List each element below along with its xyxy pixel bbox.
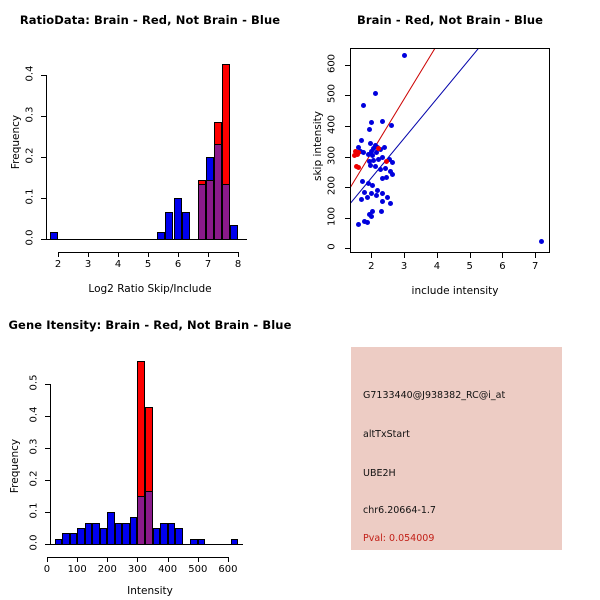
scatter-title: Brain - Red, Not Brain - Blue xyxy=(300,13,600,27)
gene-info-panel: G7133440@J938382_RC@i_at altTxStart UBE2… xyxy=(351,347,562,550)
histogram-bar-notbrain xyxy=(100,528,108,545)
y-axis-tick-label: 0.3 xyxy=(25,103,36,127)
histogram-bar-overlap xyxy=(214,144,222,240)
histogram-bar-notbrain xyxy=(160,523,168,545)
y-axis-tick-label: 0.1 xyxy=(29,498,40,522)
histogram-bar-overlap xyxy=(145,491,153,545)
x-axis-tick xyxy=(107,557,108,562)
y-axis-tick-label: 0.0 xyxy=(25,226,36,250)
ratio-histogram-title: RatioData: Brain - Red, Not Brain - Blue xyxy=(0,13,300,27)
y-axis-tick-label: 0.5 xyxy=(29,370,40,394)
ratio-histogram-ylabel: Frequency xyxy=(10,112,22,172)
x-axis-tick-label: 4 xyxy=(427,261,447,272)
x-axis-tick-label: 300 xyxy=(123,564,151,575)
y-axis-tick-label: 0.0 xyxy=(29,531,40,555)
x-axis-tick-label: 0 xyxy=(33,564,61,575)
y-axis-tick xyxy=(45,448,50,449)
x-axis-tick-label: 3 xyxy=(394,261,414,272)
histogram-bar-notbrain xyxy=(85,523,93,545)
histogram-bar-notbrain xyxy=(168,523,176,545)
y-axis-tick xyxy=(45,544,50,545)
info-pval: Pval: 0.054009 xyxy=(363,533,434,544)
r-plot-canvas: RatioData: Brain - Red, Not Brain - Blue… xyxy=(0,0,600,600)
histogram-bar-notbrain xyxy=(107,512,115,545)
y-axis-tick-label: 300 xyxy=(327,142,338,168)
x-axis-tick xyxy=(168,557,169,562)
y-axis-tick-label: 500 xyxy=(327,81,338,107)
x-axis-tick xyxy=(238,252,239,257)
x-axis-tick-label: 600 xyxy=(214,564,242,575)
x-axis-tick-label: 8 xyxy=(228,259,248,270)
histogram-bar-notbrain xyxy=(122,523,130,545)
y-axis-tick-label: 0 xyxy=(327,234,338,260)
x-axis-tick xyxy=(228,557,229,562)
y-axis-line xyxy=(50,384,51,544)
y-axis-tick xyxy=(41,157,46,158)
x-axis-tick xyxy=(47,557,48,562)
x-axis-tick xyxy=(137,557,138,562)
x-axis-tick xyxy=(502,253,503,258)
panel-gene-intensity-histogram: Gene Itensity: Brain - Red, Not Brain - … xyxy=(0,300,300,600)
scatter-ylabel: skip intensity xyxy=(312,111,324,181)
histogram-baseline xyxy=(50,544,243,545)
x-axis-tick xyxy=(470,253,471,258)
panel-intensity-scatter: Brain - Red, Not Brain - Blue skip inten… xyxy=(300,0,600,300)
y-axis-tick xyxy=(45,416,50,417)
histogram-bar-overlap xyxy=(137,496,145,545)
y-axis-tick-label: 400 xyxy=(327,112,338,138)
y-axis-line xyxy=(46,75,47,239)
info-event-type: altTxStart xyxy=(363,429,410,440)
x-axis-tick xyxy=(437,253,438,258)
y-axis-tick xyxy=(345,187,350,188)
y-axis-tick-label: 600 xyxy=(327,50,338,76)
y-axis-tick xyxy=(345,218,350,219)
y-axis-tick-label: 0.2 xyxy=(29,466,40,490)
x-axis-tick xyxy=(198,557,199,562)
y-axis-tick xyxy=(345,126,350,127)
y-axis-tick xyxy=(345,157,350,158)
y-axis-tick xyxy=(45,384,50,385)
histogram-bar-notbrain xyxy=(153,528,161,545)
histogram-bar-notbrain xyxy=(182,212,190,240)
y-axis-tick xyxy=(45,512,50,513)
y-axis-tick xyxy=(45,480,50,481)
gene-histogram-ylabel: Frequency xyxy=(9,436,21,496)
histogram-bar-notbrain xyxy=(230,225,238,240)
histogram-bar-notbrain xyxy=(174,198,182,240)
x-axis-tick xyxy=(404,253,405,258)
panel-ratio-histogram: RatioData: Brain - Red, Not Brain - Blue… xyxy=(0,0,300,300)
histogram-bar-notbrain xyxy=(92,523,100,545)
gene-histogram-title: Gene Itensity: Brain - Red, Not Brain - … xyxy=(0,318,300,332)
histogram-bar-overlap xyxy=(198,184,206,240)
histogram-bar-notbrain xyxy=(165,212,173,240)
histogram-baseline xyxy=(46,239,247,240)
histogram-bar-overlap xyxy=(222,184,230,240)
info-locus: chr6.20664-1.7 xyxy=(363,505,436,516)
x-axis-tick-label: 7 xyxy=(198,259,218,270)
y-axis-tick-label: 200 xyxy=(327,173,338,199)
y-axis-tick-label: 0.3 xyxy=(29,434,40,458)
y-axis-tick xyxy=(41,116,46,117)
info-gene-symbol: UBE2H xyxy=(363,468,396,479)
x-axis-tick xyxy=(118,252,119,257)
x-axis-tick xyxy=(535,253,536,258)
info-probe-id: G7133440@J938382_RC@i_at xyxy=(363,390,505,401)
y-axis-tick-label: 0.4 xyxy=(29,402,40,426)
histogram-bar-notbrain xyxy=(77,528,85,545)
x-axis-tick xyxy=(178,252,179,257)
x-axis-tick-label: 2 xyxy=(361,261,381,272)
y-axis-tick-label: 0.1 xyxy=(25,185,36,209)
y-axis-tick-label: 0.4 xyxy=(25,62,36,86)
y-axis-tick-label: 100 xyxy=(327,203,338,229)
y-axis-tick-label: 0.2 xyxy=(25,144,36,168)
histogram-bar-notbrain xyxy=(175,528,183,545)
histogram-bar-overlap xyxy=(206,180,214,240)
histogram-bar-notbrain xyxy=(130,517,138,545)
x-axis-tick-label: 400 xyxy=(154,564,182,575)
x-axis-tick-label: 7 xyxy=(525,261,545,272)
y-axis-tick xyxy=(345,65,350,66)
x-axis-tick-label: 2 xyxy=(48,259,68,270)
scatter-frame xyxy=(350,48,550,253)
y-axis-tick xyxy=(345,248,350,249)
x-axis-tick xyxy=(58,252,59,257)
x-axis-tick-label: 200 xyxy=(93,564,121,575)
gene-histogram-xlabel: Intensity xyxy=(40,585,260,597)
x-axis-tick-label: 500 xyxy=(184,564,212,575)
x-axis-tick xyxy=(88,252,89,257)
y-axis-tick xyxy=(41,75,46,76)
x-axis-tick xyxy=(208,252,209,257)
x-axis-tick-label: 6 xyxy=(492,261,512,272)
scatter-xlabel: include intensity xyxy=(345,285,565,297)
x-axis-tick-label: 6 xyxy=(168,259,188,270)
x-axis-tick-label: 3 xyxy=(78,259,98,270)
x-axis-tick-label: 5 xyxy=(138,259,158,270)
x-axis-tick xyxy=(148,252,149,257)
ratio-histogram-xlabel: Log2 Ratio Skip/Include xyxy=(40,283,260,295)
y-axis-tick xyxy=(41,198,46,199)
y-axis-tick xyxy=(345,95,350,96)
histogram-bar-notbrain xyxy=(115,523,123,545)
x-axis-tick-label: 4 xyxy=(108,259,128,270)
x-axis-tick xyxy=(77,557,78,562)
x-axis-tick xyxy=(371,253,372,258)
y-axis-tick xyxy=(41,239,46,240)
x-axis-tick-label: 100 xyxy=(63,564,91,575)
x-axis-tick-label: 5 xyxy=(460,261,480,272)
